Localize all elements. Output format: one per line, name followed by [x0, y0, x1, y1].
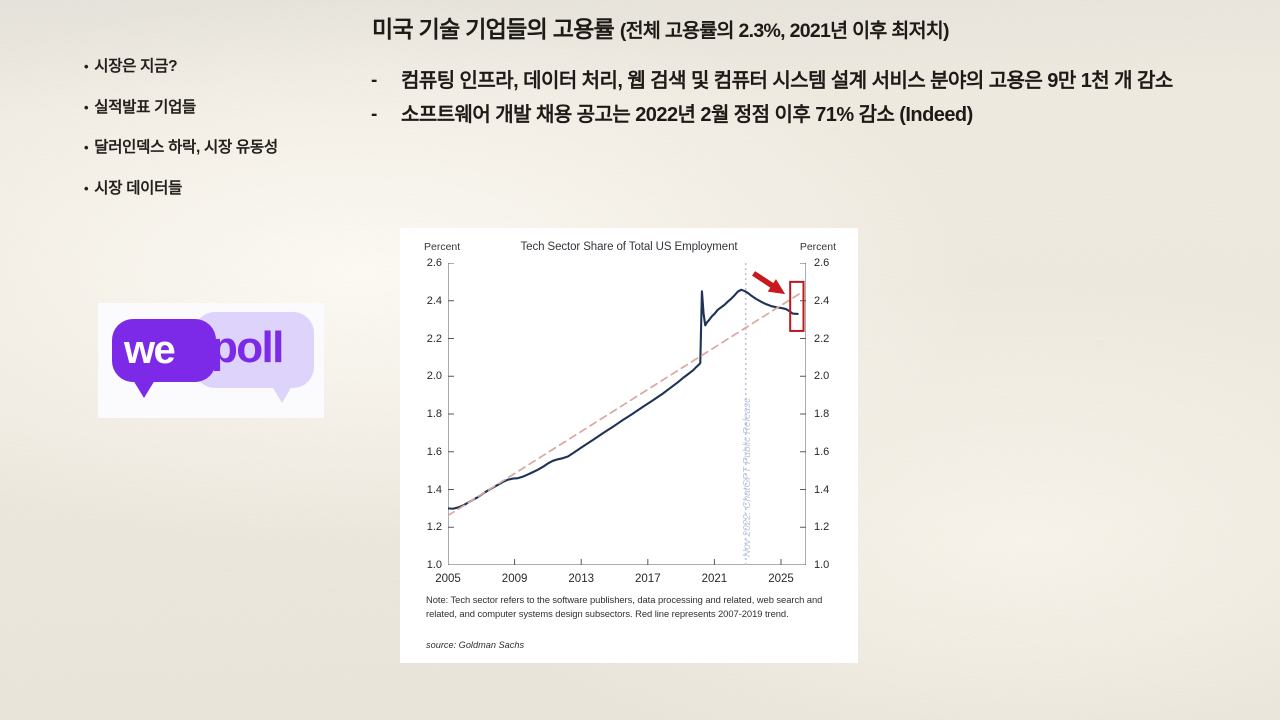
chart-panel: Percent Tech Sector Share of Total US Em… — [400, 228, 858, 663]
y-tick-label: 1.8 — [814, 409, 844, 420]
bullet-item-text: 컴퓨팅 인프라, 데이터 처리, 웹 검색 및 컴퓨터 시스템 설계 서비스 분… — [401, 66, 1173, 97]
y-tick-label: 1.6 — [814, 447, 844, 458]
dash-icon: - — [371, 100, 401, 129]
y-tick-label: 1.0 — [814, 560, 844, 571]
x-tick-label: 2025 — [758, 574, 804, 586]
y-tick-label: 1.2 — [412, 522, 442, 533]
sidebar-item-market-data[interactable]: • 시장 데이터들 — [84, 180, 374, 199]
y-tick-label: 1.6 — [412, 447, 442, 458]
x-tick-label: 2013 — [558, 574, 604, 586]
page-title-main: 미국 기술 기업들의 고용률 — [372, 16, 614, 42]
bullet-icon: • — [84, 99, 88, 117]
x-tick-label: 2017 — [625, 574, 671, 586]
sidebar-item-label: 시장 데이터들 — [94, 180, 182, 199]
page-title-parenthetical: (전체 고용률의 2.3%, 2021년 이후 최저치) — [620, 20, 949, 42]
y-tick-label: 2.0 — [814, 371, 844, 382]
sidebar-item-label: 시장은 지금? — [94, 58, 177, 77]
bullet-item-text: 소프트웨어 개발 채용 공고는 2022년 2월 정점 이후 71% 감소 (I… — [401, 100, 973, 131]
bullet-item: - 컴퓨팅 인프라, 데이터 처리, 웹 검색 및 컴퓨터 시스템 설계 서비스… — [371, 66, 1276, 97]
page-title: 미국 기술 기업들의 고용률 (전체 고용률의 2.3%, 2021년 이후 최… — [372, 16, 1272, 43]
sidebar-item-earnings[interactable]: • 실적발표 기업들 — [84, 99, 374, 118]
y-tick-label: 2.4 — [814, 296, 844, 307]
chatgpt-release-annotation-label: Nov 2022: ChatGPT Public Release — [742, 397, 753, 557]
bullet-icon: • — [84, 180, 88, 198]
bullet-list: - 컴퓨팅 인프라, 데이터 처리, 웹 검색 및 컴퓨터 시스템 설계 서비스… — [371, 66, 1276, 134]
y-tick-label: 1.4 — [412, 485, 442, 496]
y-axis-right-label: Percent — [800, 241, 836, 253]
dash-icon: - — [371, 66, 401, 95]
x-tick-label: 2005 — [425, 574, 471, 586]
y-tick-label: 1.2 — [814, 522, 844, 533]
y-tick-label: 1.8 — [412, 409, 442, 420]
bullet-item: - 소프트웨어 개발 채용 공고는 2022년 2월 정점 이후 71% 감소 … — [371, 100, 1276, 131]
chart-title: Tech Sector Share of Total US Employment — [400, 241, 858, 253]
y-tick-label: 2.2 — [412, 334, 442, 345]
bullet-icon: • — [84, 139, 88, 157]
logo-text-poll: poll — [211, 325, 283, 371]
sidebar-item-dollar-index[interactable]: • 달러인덱스 하락, 시장 유동성 — [84, 139, 374, 158]
sidebar-item-label: 달러인덱스 하락, 시장 유동성 — [94, 139, 278, 158]
bullet-icon: • — [84, 58, 88, 76]
y-tick-label: 2.6 — [412, 258, 442, 269]
y-tick-label: 2.2 — [814, 334, 844, 345]
y-tick-label: 2.0 — [412, 371, 442, 382]
sidebar: • 시장은 지금? • 실적발표 기업들 • 달러인덱스 하락, 시장 유동성 … — [84, 58, 374, 220]
sidebar-item-label: 실적발표 기업들 — [94, 99, 196, 118]
x-tick-label: 2021 — [691, 574, 737, 586]
chart-source: source: Goldman Sachs — [426, 640, 524, 650]
x-tick-label: 2009 — [492, 574, 538, 586]
wepoll-logo: we poll — [98, 303, 324, 418]
sidebar-item-market-now[interactable]: • 시장은 지금? — [84, 58, 374, 77]
y-tick-label: 1.0 — [412, 560, 442, 571]
y-tick-label: 2.4 — [412, 296, 442, 307]
chart-note: Note: Tech sector refers to the software… — [426, 593, 844, 621]
logo-text-we: we — [124, 329, 174, 371]
y-tick-label: 1.4 — [814, 485, 844, 496]
y-tick-label: 2.6 — [814, 258, 844, 269]
